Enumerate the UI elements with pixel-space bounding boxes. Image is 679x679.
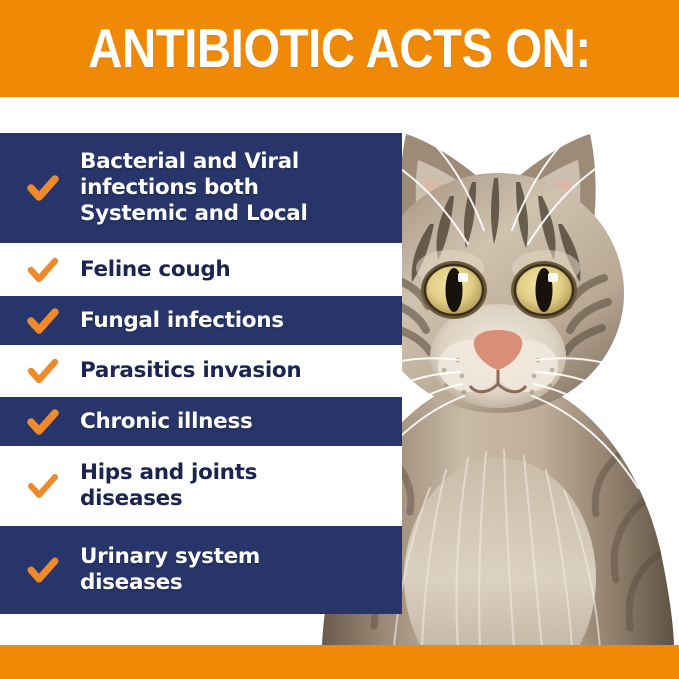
- antibiotic-infographic-poster: ANTIBIOTIC ACTS ON:: [0, 0, 679, 679]
- page-title: ANTIBIOTIC ACTS ON:: [48, 17, 632, 79]
- checkmark-icon: [26, 354, 60, 388]
- list-item-label: Chronic illness: [80, 409, 252, 435]
- checkmark-icon: [26, 253, 60, 287]
- bottom-orange-band: [0, 645, 679, 679]
- checkmark-icon: [26, 171, 60, 205]
- checkmark-icon: [26, 405, 60, 439]
- checkmark-icon: [26, 304, 60, 338]
- list-item: Bacterial and Viral infections both Syst…: [0, 133, 402, 243]
- list-item-label: Bacterial and Viral infections both Syst…: [80, 149, 308, 227]
- list-item-label: Parasitics invasion: [80, 358, 301, 384]
- list-item: Parasitics invasion: [0, 345, 402, 397]
- list-item: Urinary system diseases: [0, 526, 402, 614]
- conditions-list: Bacterial and Viral infections both Syst…: [0, 133, 402, 614]
- list-item: Hips and joints diseases: [0, 446, 402, 526]
- list-item-label: Urinary system diseases: [80, 544, 260, 596]
- list-item: Fungal infections: [0, 296, 402, 345]
- checkmark-icon: [26, 469, 60, 503]
- list-item: Chronic illness: [0, 397, 402, 446]
- list-item: Feline cough: [0, 243, 402, 296]
- list-item-label: Hips and joints diseases: [80, 460, 257, 512]
- list-item-label: Feline cough: [80, 257, 230, 283]
- checkmark-icon: [26, 553, 60, 587]
- list-item-label: Fungal infections: [80, 308, 284, 334]
